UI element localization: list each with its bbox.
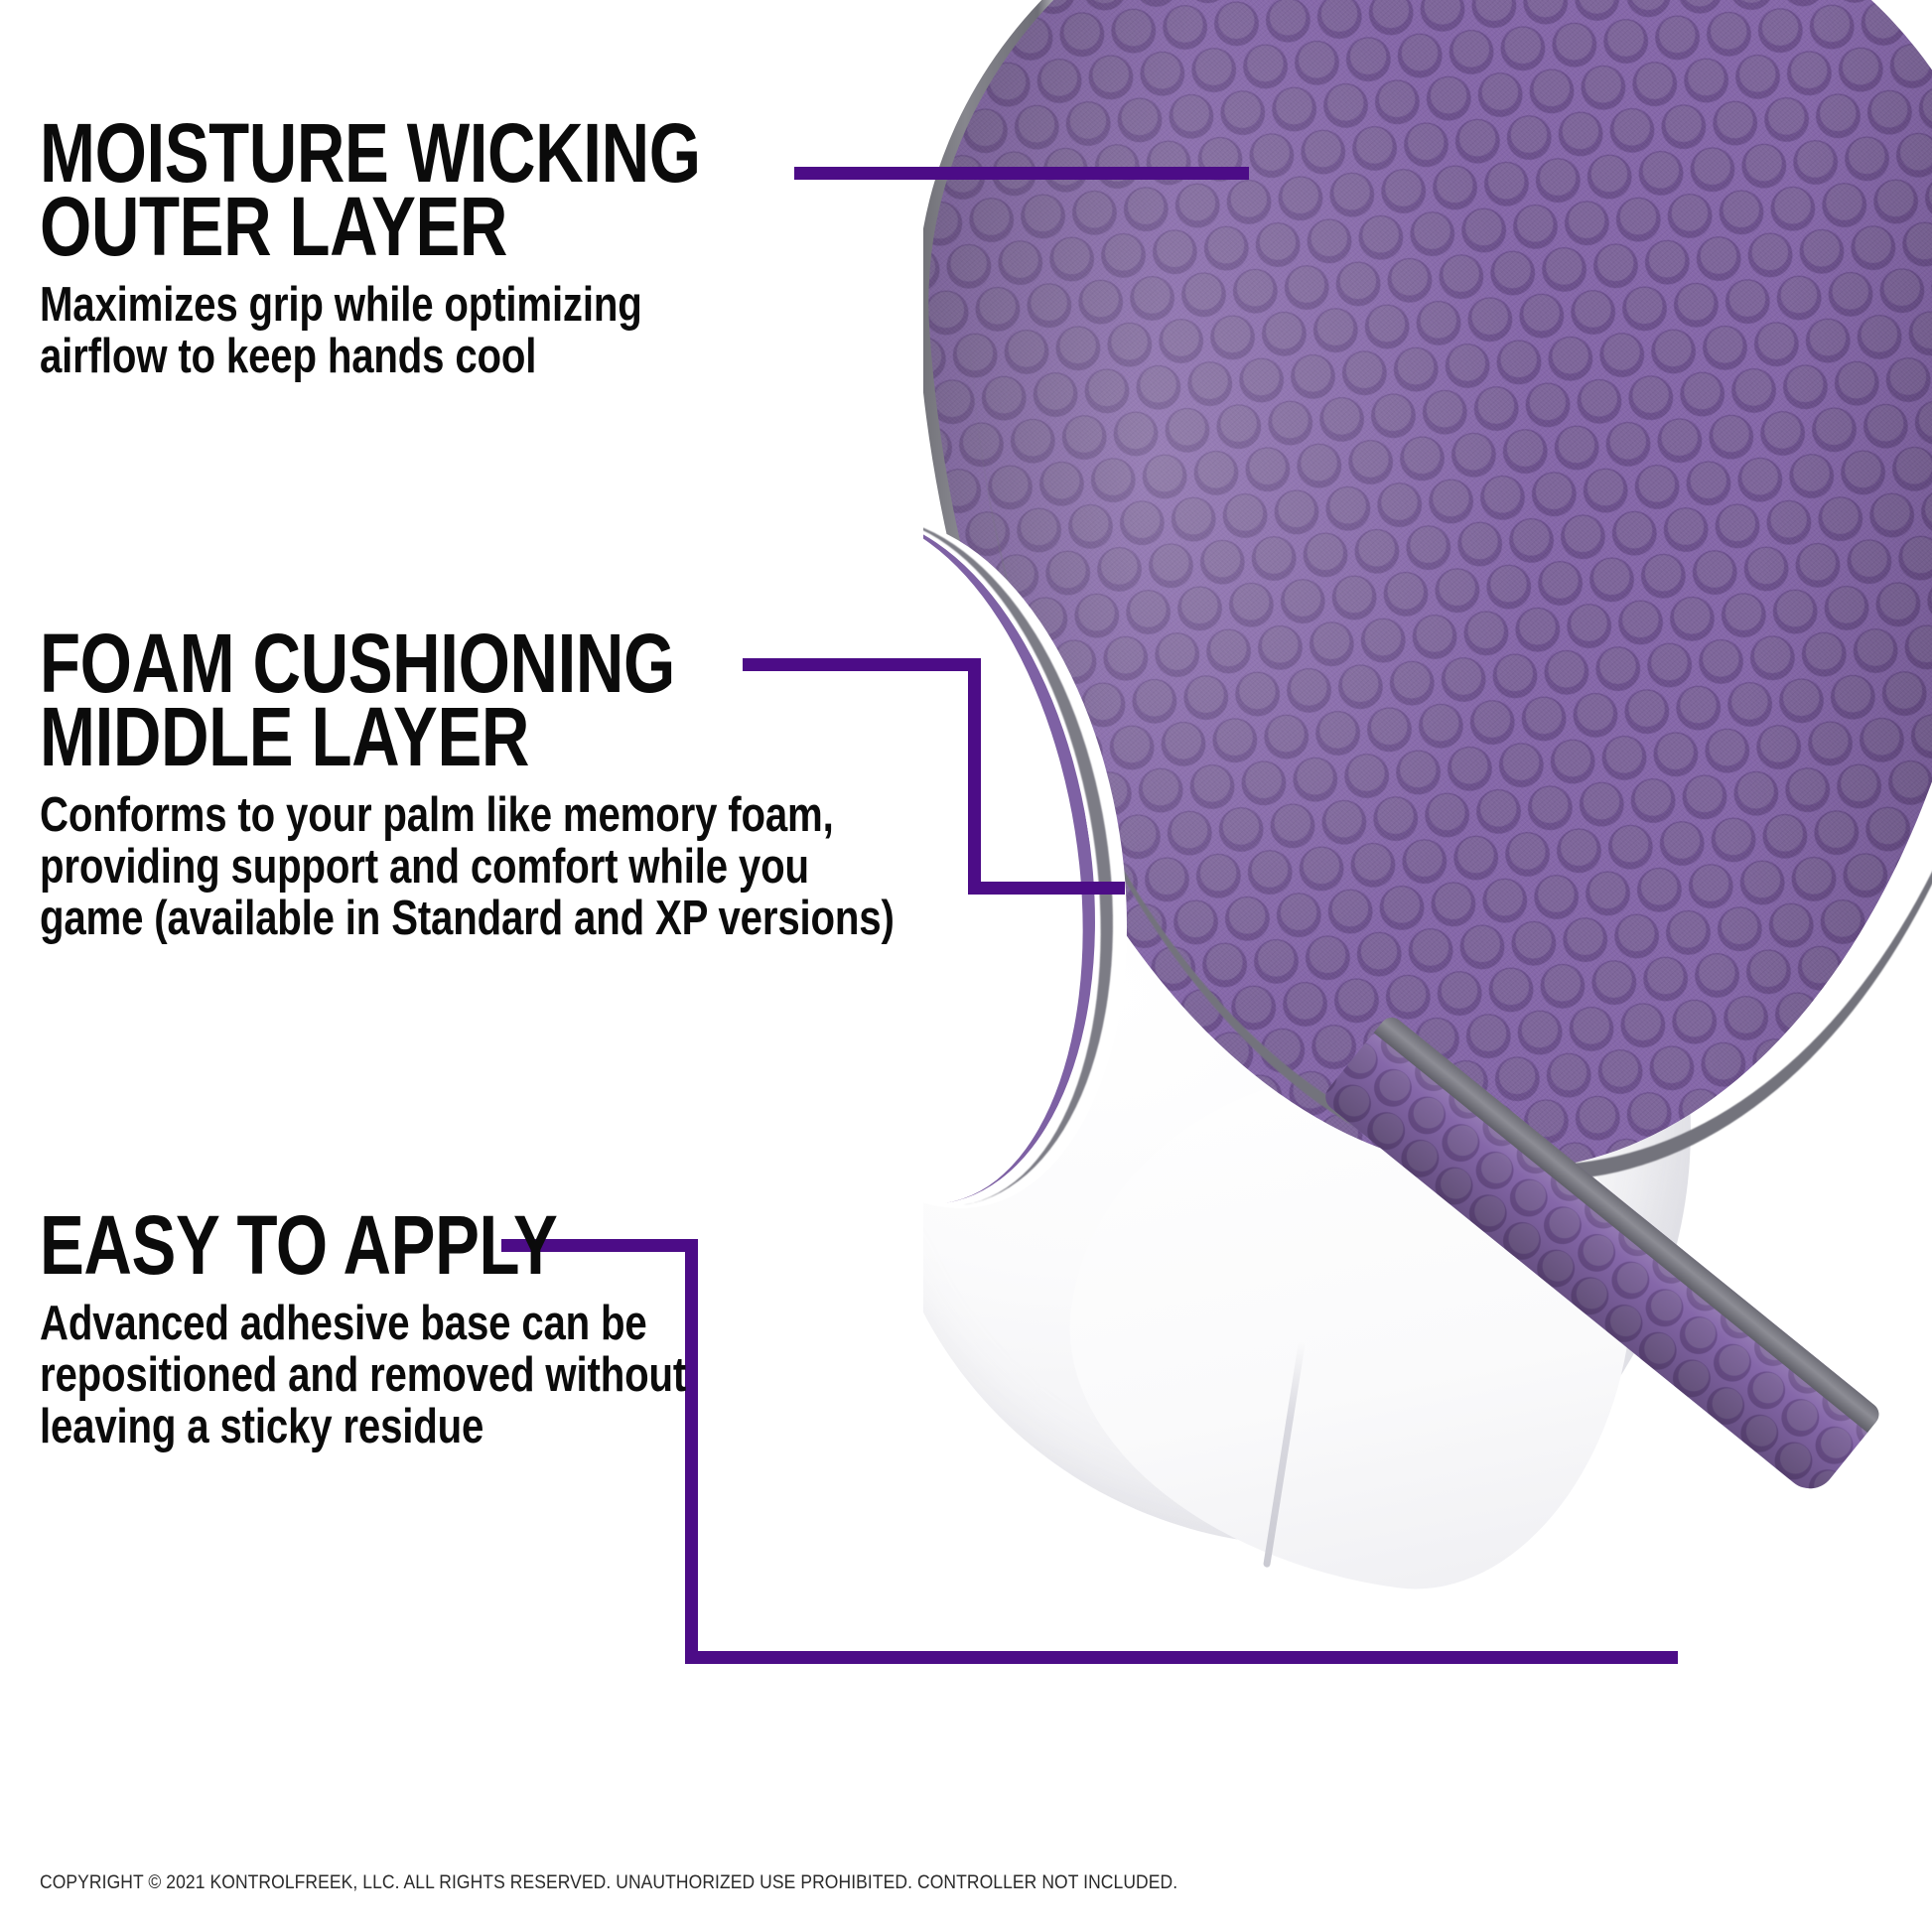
feature-block-moisture-wicking-outer-layer: MOISTURE WICKING OUTER LAYER Maximizes g…: [40, 117, 866, 383]
infographic-canvas: MOISTURE WICKING OUTER LAYER Maximizes g…: [0, 0, 1932, 1932]
feature-1-heading-line-2: OUTER LAYER: [40, 191, 701, 264]
feature-2-body: Conforms to your palm like memory foam, …: [40, 790, 895, 945]
feature-2-body-line-1: Conforms to your palm like memory foam,: [40, 790, 895, 842]
feature-3-body: Advanced adhesive base can be reposition…: [40, 1299, 686, 1453]
feature-2-body-line-2: providing support and comfort while you: [40, 842, 895, 894]
feature-1-body: Maximizes grip while optimizing airflow …: [40, 280, 717, 383]
feature-block-foam-cushioning-middle-layer: FOAM CUSHIONING MIDDLE LAYER Conforms to…: [40, 627, 1082, 945]
feature-1-body-line-2: airflow to keep hands cool: [40, 332, 717, 383]
feature-1-heading: MOISTURE WICKING OUTER LAYER: [40, 117, 701, 264]
feature-2-body-line-3: game (available in Standard and XP versi…: [40, 894, 895, 945]
feature-3-body-line-1: Advanced adhesive base can be: [40, 1299, 686, 1350]
feature-1-body-line-1: Maximizes grip while optimizing: [40, 280, 717, 332]
feature-3-heading-line-1: EASY TO APPLY: [40, 1209, 670, 1283]
feature-3-body-line-3: leaving a sticky residue: [40, 1402, 686, 1453]
feature-2-heading-line-2: MIDDLE LAYER: [40, 701, 874, 774]
feature-2-heading: FOAM CUSHIONING MIDDLE LAYER: [40, 627, 874, 774]
feature-3-heading: EASY TO APPLY: [40, 1209, 670, 1283]
leader-line-3-pointer: [685, 1651, 1678, 1664]
feature-block-easy-to-apply: EASY TO APPLY Advanced adhesive base can…: [40, 1209, 828, 1453]
feature-3-body-line-2: repositioned and removed without: [40, 1350, 686, 1402]
copyright-notice: COPYRIGHT © 2021 KONTROLFREEK, LLC. ALL …: [40, 1872, 1177, 1894]
